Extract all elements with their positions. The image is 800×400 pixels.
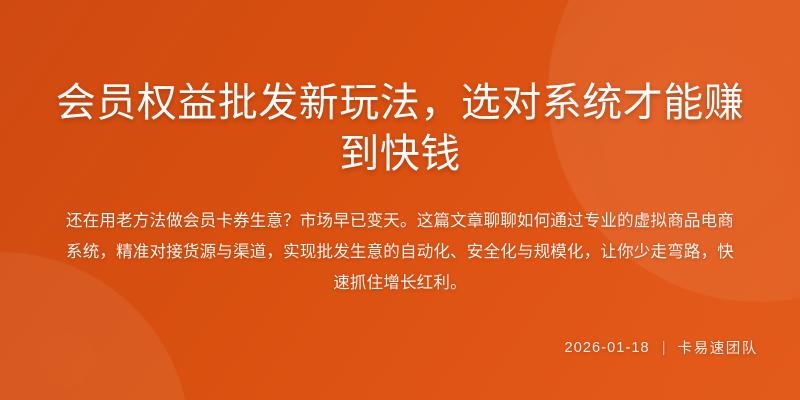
poster-card: 会员权益批发新玩法，选对系统才能赚到快钱 还在用老方法做会员卡券生意？市场早已变… xyxy=(0,0,800,400)
author-team: 卡易速团队 xyxy=(678,337,759,358)
publish-date: 2026-01-18 xyxy=(565,340,650,356)
poster-footer: 2026-01-18 | 卡易速团队 xyxy=(565,337,758,358)
poster-title: 会员权益批发新玩法，选对系统才能赚到快钱 xyxy=(50,78,750,180)
footer-separator: | xyxy=(662,340,666,356)
poster-summary: 还在用老方法做会员卡券生意？市场早已变天。这篇文章聊聊如何通过专业的虚拟商品电商… xyxy=(64,206,736,298)
